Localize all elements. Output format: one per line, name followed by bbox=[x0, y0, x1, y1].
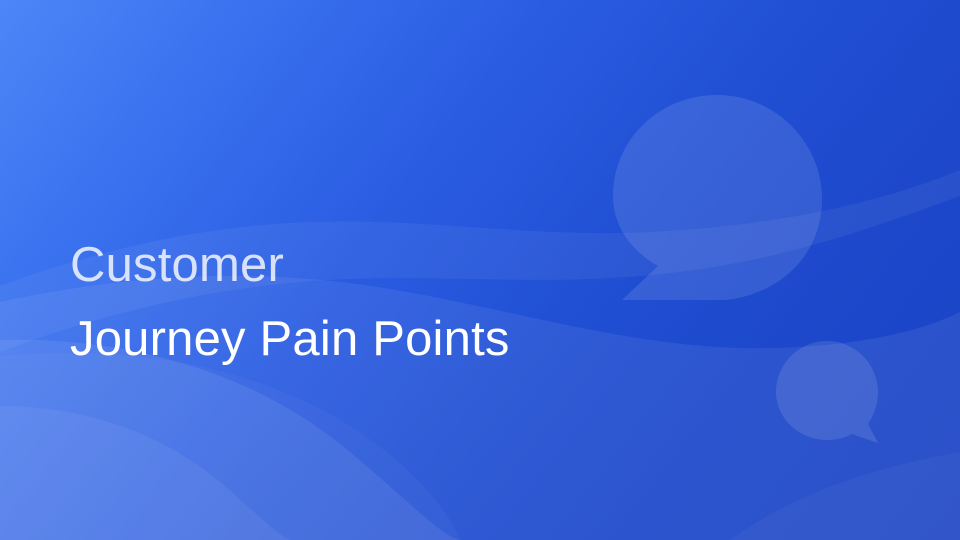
slide-title-line-2: Journey Pain Points bbox=[70, 302, 690, 376]
speech-bubble-small-icon bbox=[776, 341, 878, 443]
slide-title: Customer Journey Pain Points bbox=[70, 228, 690, 376]
wave-bottom-left-glow-shape bbox=[0, 406, 292, 540]
slide-title-line-1: Customer bbox=[70, 228, 690, 302]
wave-bottom-right-sweep-shape bbox=[730, 452, 960, 540]
title-slide: Customer Journey Pain Points bbox=[0, 0, 960, 540]
wave-left-accent-shape bbox=[0, 353, 460, 540]
